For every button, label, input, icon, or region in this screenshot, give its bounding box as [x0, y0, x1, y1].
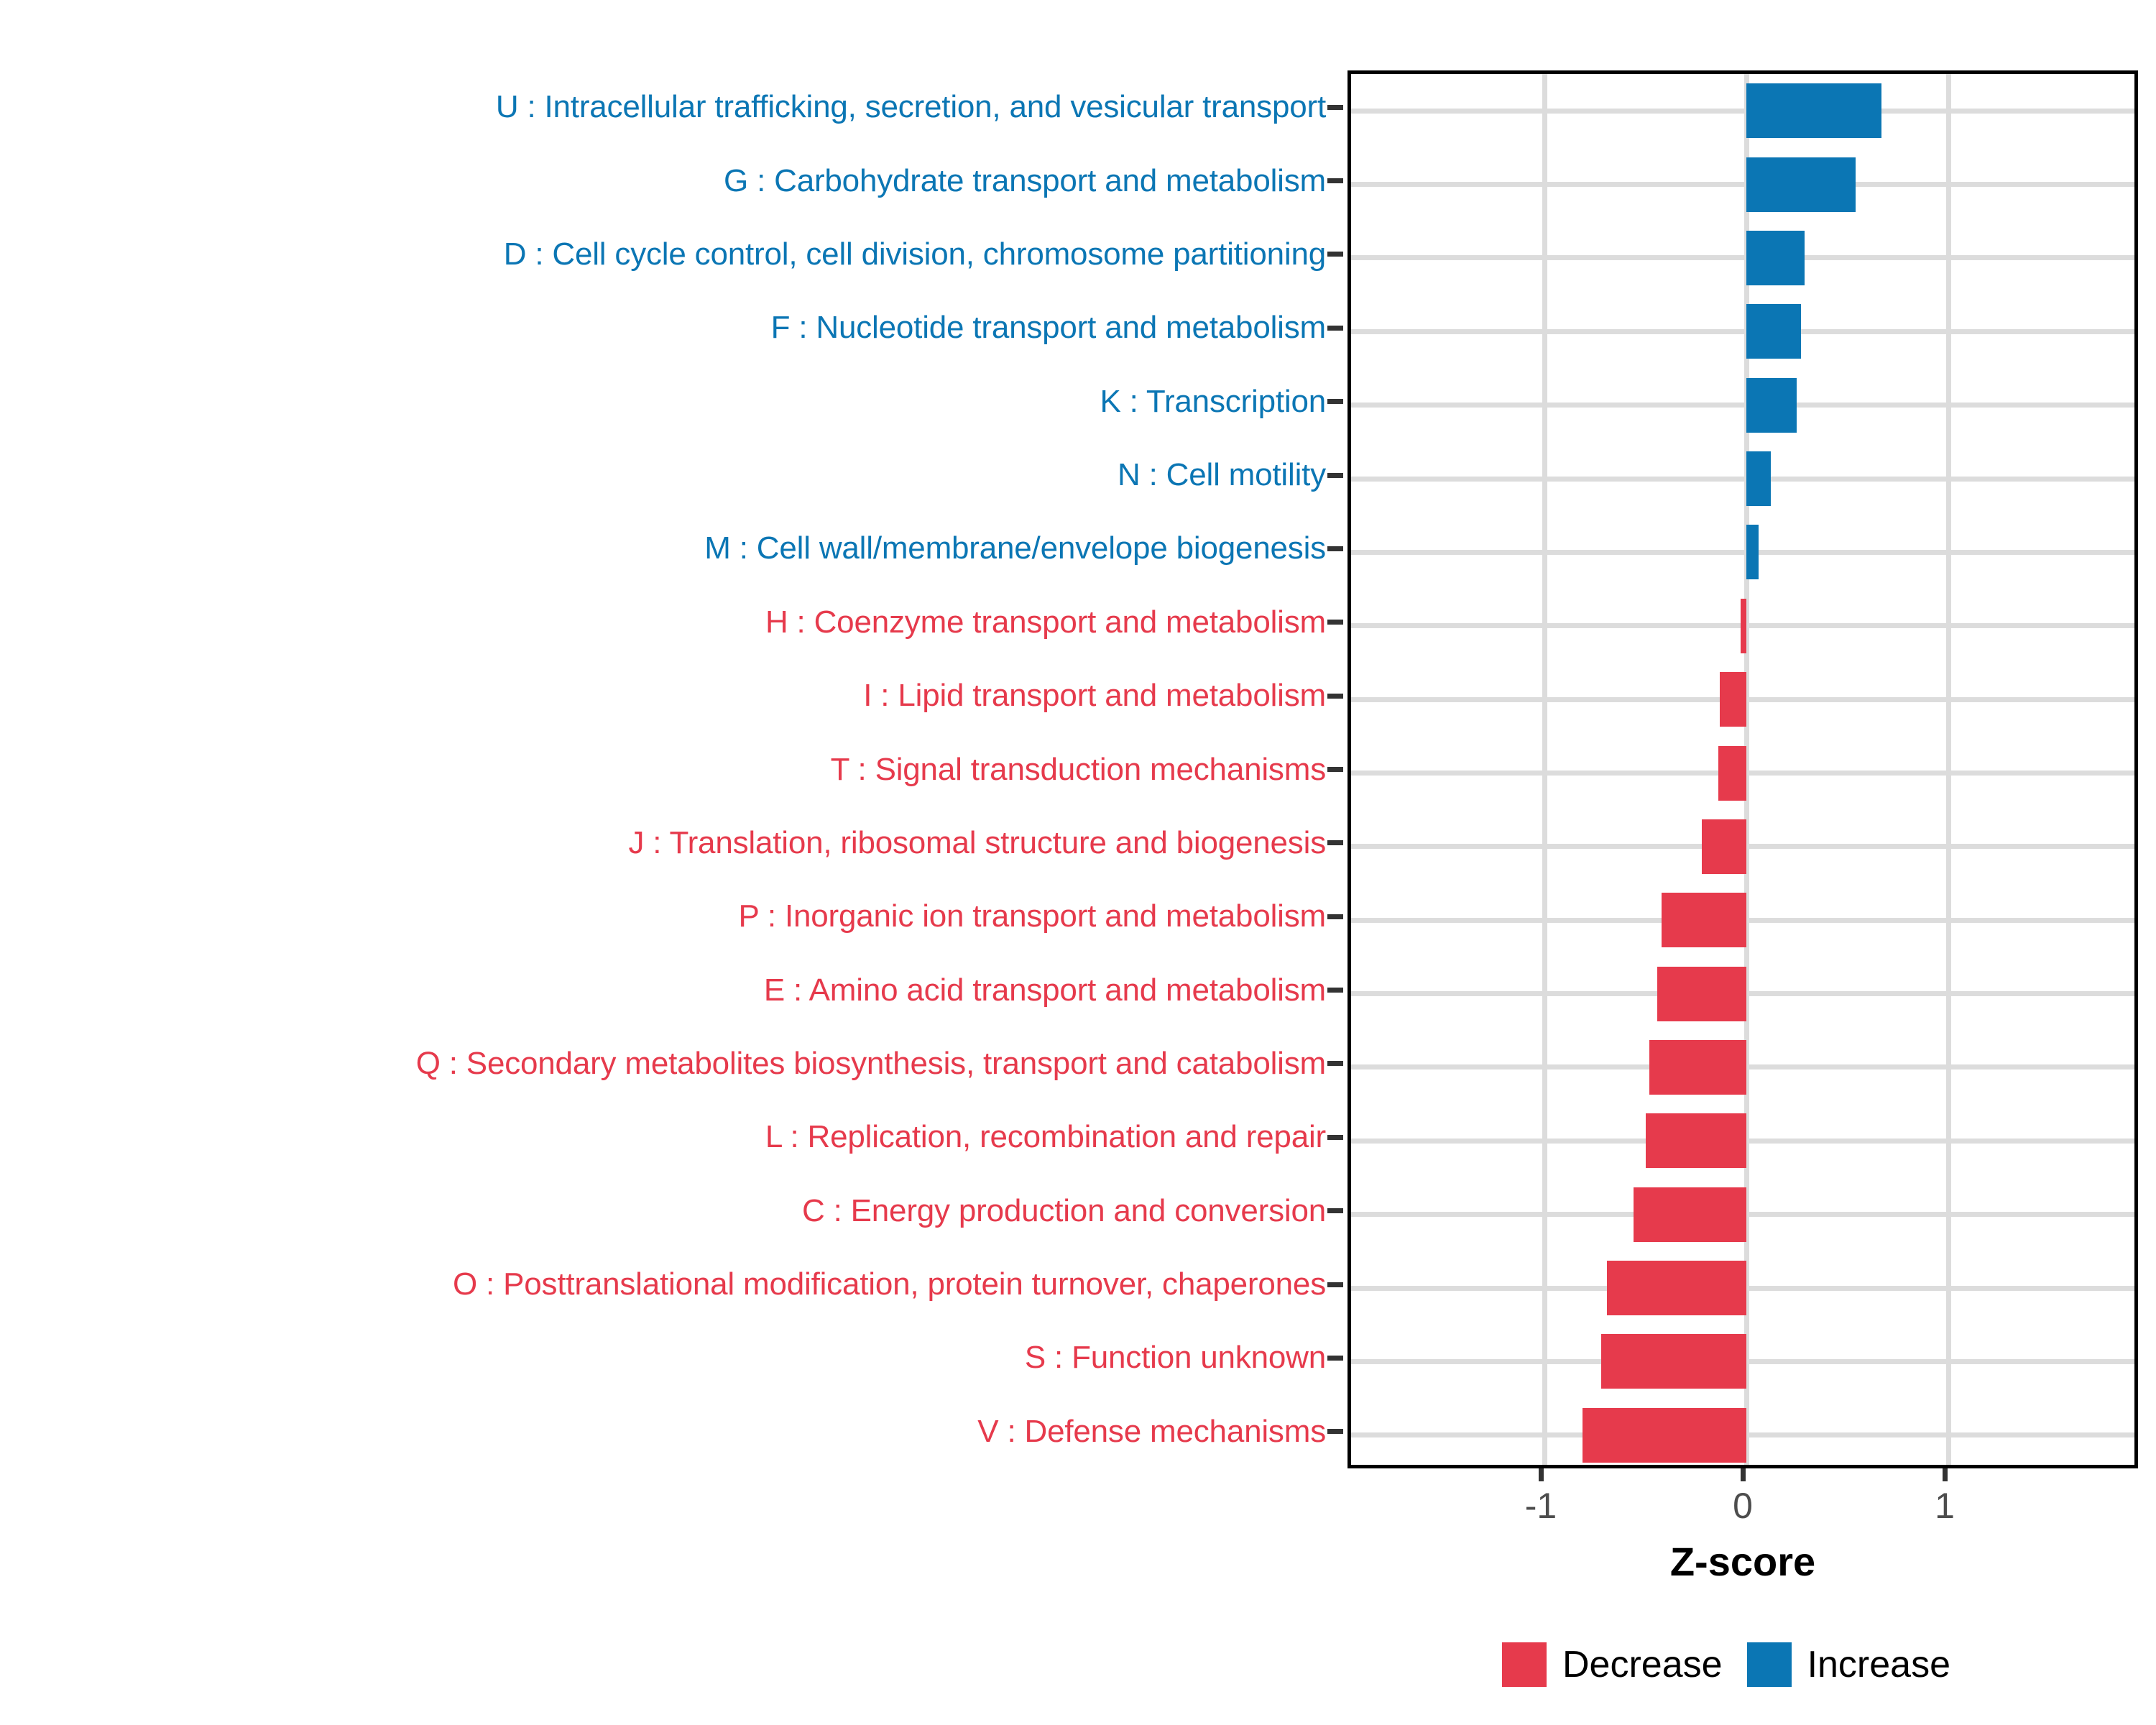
bar[interactable] [1746, 83, 1881, 138]
x-axis-tick [1741, 1468, 1746, 1481]
category-label-row: E : Amino acid transport and metabolism [0, 969, 1326, 1012]
legend-item-decrease[interactable]: Decrease [1502, 1642, 1723, 1687]
bar[interactable] [1746, 157, 1856, 212]
bar[interactable] [1746, 231, 1805, 285]
y-axis-tick [1327, 326, 1343, 331]
category-label-row: H : Coenzyme transport and metabolism [0, 601, 1326, 644]
bar[interactable] [1634, 1187, 1746, 1242]
chart-root: U : Intracellular trafficking, secretion… [0, 0, 2156, 1725]
legend-label-increase: Increase [1807, 1643, 1950, 1686]
legend-item-increase[interactable]: Increase [1747, 1642, 1950, 1687]
category-label-row: G : Carbohydrate transport and metabolis… [0, 160, 1326, 203]
bar[interactable] [1746, 451, 1771, 506]
bar[interactable] [1741, 599, 1746, 653]
y-axis-tick [1327, 914, 1343, 919]
category-label-row: M : Cell wall/membrane/envelope biogenes… [0, 527, 1326, 570]
x-axis-tick-label: 0 [1733, 1485, 1753, 1527]
y-axis-tick [1327, 1282, 1343, 1287]
category-label-row: L : Replication, recombination and repai… [0, 1115, 1326, 1159]
y-axis-tick [1327, 105, 1343, 110]
category-label: E : Amino acid transport and metabolism [764, 975, 1326, 1006]
y-axis-tick [1327, 1135, 1343, 1140]
category-label: G : Carbohydrate transport and metabolis… [724, 165, 1326, 197]
category-label-row: J : Translation, ribosomal structure and… [0, 822, 1326, 865]
bar[interactable] [1662, 893, 1746, 947]
y-axis-tick [1327, 988, 1343, 993]
plot-panel [1347, 70, 2138, 1468]
category-label: O : Posttranslational modification, prot… [453, 1269, 1326, 1300]
legend-swatch-decrease [1502, 1642, 1547, 1687]
horizontal-gridline [1351, 255, 2134, 260]
category-label-row: Q : Secondary metabolites biosynthesis, … [0, 1042, 1326, 1085]
category-label: Q : Secondary metabolites biosynthesis, … [416, 1048, 1326, 1080]
bar[interactable] [1601, 1334, 1746, 1389]
category-label: F : Nucleotide transport and metabolism [771, 312, 1326, 344]
y-axis-tick [1327, 399, 1343, 404]
category-label: U : Intracellular trafficking, secretion… [496, 91, 1326, 123]
bar[interactable] [1657, 967, 1746, 1021]
bar[interactable] [1746, 378, 1797, 433]
bar[interactable] [1746, 304, 1801, 359]
y-axis-tick [1327, 473, 1343, 478]
category-label: D : Cell cycle control, cell division, c… [504, 239, 1326, 270]
bar[interactable] [1583, 1408, 1746, 1463]
bar[interactable] [1718, 746, 1746, 801]
vertical-gridline [1542, 74, 1547, 1465]
horizontal-gridline [1351, 550, 2134, 555]
category-label-row: P : Inorganic ion transport and metaboli… [0, 895, 1326, 938]
category-label: V : Defense mechanisms [977, 1416, 1326, 1448]
bar[interactable] [1720, 672, 1746, 727]
category-label-row: K : Transcription [0, 380, 1326, 423]
bar[interactable] [1646, 1113, 1747, 1168]
bar[interactable] [1702, 819, 1746, 874]
y-axis-tick [1327, 178, 1343, 183]
x-axis-tick-label: -1 [1525, 1485, 1557, 1527]
category-label-row: D : Cell cycle control, cell division, c… [0, 233, 1326, 276]
category-label-row: F : Nucleotide transport and metabolism [0, 306, 1326, 349]
category-label-row: T : Signal transduction mechanisms [0, 748, 1326, 791]
legend: Decrease Increase [1502, 1642, 1950, 1687]
category-label: C : Energy production and conversion [802, 1195, 1326, 1227]
category-label: M : Cell wall/membrane/envelope biogenes… [704, 533, 1326, 564]
y-axis-tick [1327, 546, 1343, 551]
legend-label-decrease: Decrease [1562, 1643, 1723, 1686]
horizontal-gridline [1351, 109, 2134, 114]
y-axis-tick [1327, 1061, 1343, 1066]
y-axis-tick [1327, 620, 1343, 625]
category-label-row: S : Function unknown [0, 1336, 1326, 1379]
category-label-column: U : Intracellular trafficking, secretion… [0, 70, 1347, 1468]
x-axis-tick [1539, 1468, 1544, 1481]
legend-swatch-increase [1747, 1642, 1792, 1687]
y-axis-tick [1327, 840, 1343, 845]
horizontal-gridline [1351, 402, 2134, 408]
y-axis-tick [1327, 1356, 1343, 1361]
category-label: T : Signal transduction mechanisms [831, 754, 1326, 786]
category-label-row: U : Intracellular trafficking, secretion… [0, 86, 1326, 129]
y-axis-tick [1327, 252, 1343, 257]
category-label: H : Coenzyme transport and metabolism [765, 607, 1326, 638]
category-label-row: I : Lipid transport and metabolism [0, 674, 1326, 717]
horizontal-gridline [1351, 477, 2134, 482]
x-axis-title: Z-score [1670, 1538, 1815, 1585]
category-label-row: C : Energy production and conversion [0, 1190, 1326, 1233]
vertical-gridline [1946, 74, 1951, 1465]
category-label: K : Transcription [1100, 386, 1326, 418]
y-axis-tick [1327, 1208, 1343, 1213]
category-label: I : Lipid transport and metabolism [863, 680, 1326, 712]
bar[interactable] [1746, 525, 1759, 579]
category-label: J : Translation, ribosomal structure and… [628, 827, 1326, 859]
y-axis-tick [1327, 767, 1343, 772]
category-label: L : Replication, recombination and repai… [765, 1121, 1326, 1153]
horizontal-gridline [1351, 329, 2134, 334]
category-label-row: V : Defense mechanisms [0, 1410, 1326, 1453]
category-label-row: O : Posttranslational modification, prot… [0, 1263, 1326, 1306]
category-label: S : Function unknown [1025, 1342, 1326, 1374]
bar[interactable] [1607, 1261, 1746, 1315]
y-axis-tick [1327, 694, 1343, 699]
x-axis-tick [1943, 1468, 1948, 1481]
category-label: N : Cell motility [1118, 459, 1326, 491]
bar[interactable] [1649, 1040, 1746, 1095]
horizontal-gridline [1351, 182, 2134, 187]
x-axis-tick-label: 1 [1935, 1485, 1955, 1527]
category-label-row: N : Cell motility [0, 454, 1326, 497]
category-label: P : Inorganic ion transport and metaboli… [739, 901, 1326, 932]
y-axis-tick [1327, 1429, 1343, 1434]
